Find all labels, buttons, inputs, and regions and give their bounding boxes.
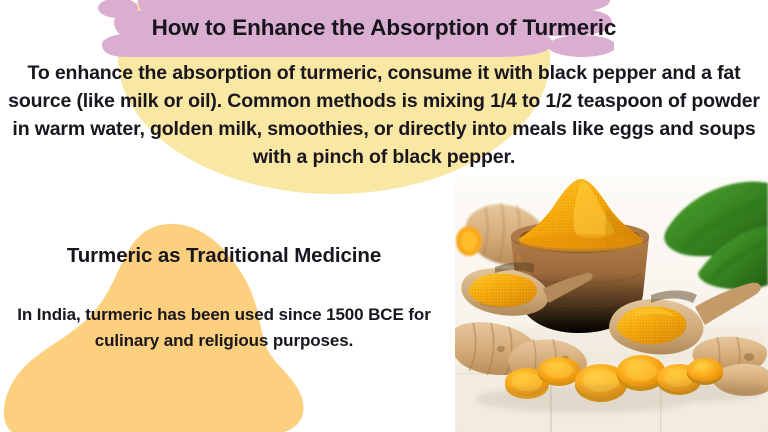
turmeric-photo: [455, 177, 768, 432]
infographic-canvas: How to Enhance the Absorption of Turmeri…: [0, 0, 768, 432]
section-paragraph: In India, turmeric has been used since 1…: [8, 302, 440, 355]
section-heading: Turmeric as Traditional Medicine: [0, 244, 448, 268]
intro-paragraph: To enhance the absorption of turmeric, c…: [4, 60, 764, 172]
page-title: How to Enhance the Absorption of Turmeri…: [0, 16, 768, 41]
